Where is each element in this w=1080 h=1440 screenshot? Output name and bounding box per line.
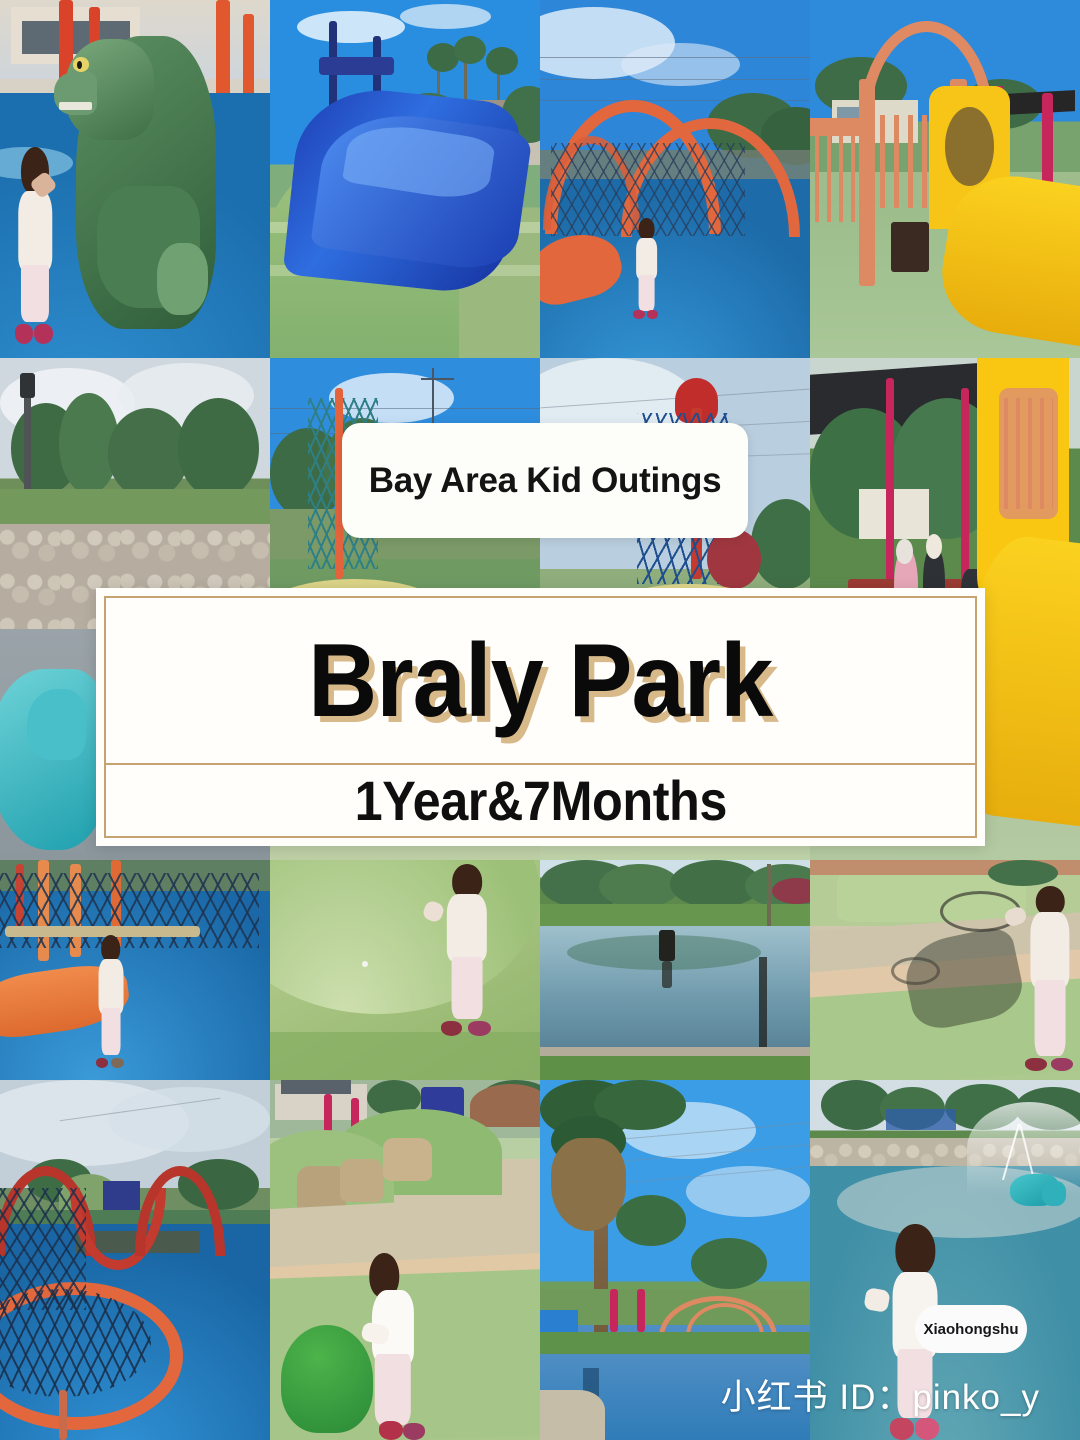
collage-photo[interactable] xyxy=(540,860,810,1080)
photo-child-at-rope-climber xyxy=(0,860,270,1080)
title-card-inner-frame: Braly Park 1Year&7Months xyxy=(104,596,977,838)
child-figure xyxy=(8,143,62,343)
photo-arch-climbing-net xyxy=(540,0,810,358)
photo-blue-slide xyxy=(270,0,540,358)
collage-photo[interactable] xyxy=(540,0,810,358)
collage-photo[interactable] xyxy=(810,0,1080,358)
photo-reflecting-pond xyxy=(540,860,810,1080)
photo-child-with-shadow xyxy=(810,860,1080,1080)
watermark-text: 小红书 ID：pinko_y xyxy=(721,1369,1040,1420)
banner-pill: Bay Area Kid Outings xyxy=(342,423,748,538)
xiaohongshu-badge-label: Xiaohongshu xyxy=(924,1321,1019,1338)
title-main-row: Braly Park xyxy=(106,598,975,765)
collage-photo[interactable] xyxy=(0,860,270,1080)
photo-child-at-green-dome xyxy=(270,1080,540,1440)
collage-photo[interactable] xyxy=(270,1080,540,1440)
collage-photo[interactable] xyxy=(270,860,540,1080)
page-subtitle: 1Year&7Months xyxy=(354,768,726,833)
photo-dragon-sculpture xyxy=(0,0,270,358)
page-title: Braly Park xyxy=(308,629,772,733)
poster-canvas: Bay Area Kid Outings Braly Park 1Year&7M… xyxy=(0,0,1080,1440)
collage-photo[interactable] xyxy=(810,860,1080,1080)
collage-photo[interactable] xyxy=(270,0,540,358)
collage-photo[interactable] xyxy=(0,0,270,358)
photo-yellow-slide-structure xyxy=(810,0,1080,358)
banner-label: Bay Area Kid Outings xyxy=(369,461,722,501)
xiaohongshu-badge: Xiaohongshu xyxy=(915,1305,1027,1353)
title-card: Braly Park 1Year&7Months xyxy=(96,588,985,846)
photo-red-wavy-climber xyxy=(0,1080,270,1440)
title-sub-row: 1Year&7Months xyxy=(106,765,975,836)
photo-child-on-green-mound xyxy=(270,860,540,1080)
collage-photo[interactable] xyxy=(0,1080,270,1440)
